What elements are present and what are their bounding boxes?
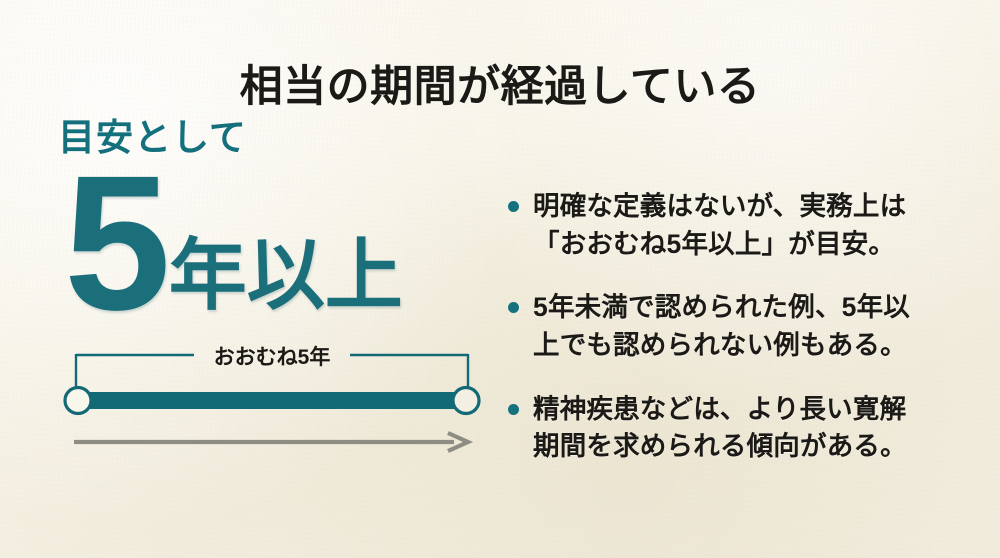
bullet-line: 5年未満で認められた例、5年以 (533, 292, 910, 322)
slide-canvas: 相当の期間が経過している 目安として 5 年以上 おおむね5年 (0, 0, 1000, 558)
headline-figure-group: 5 年以上 (64, 150, 403, 320)
headline-number: 5 (64, 166, 167, 320)
bullet-text: 5年未満で認められた例、5年以 上でも認められない例もある。 (533, 289, 910, 364)
bullet-dot-icon (508, 302, 519, 313)
bullet-list: 明確な定義はないが、実務上は 「おおむね5年以上」が目安。 5年未満で認められた… (508, 188, 970, 466)
page-title: 相当の期間が経過している (0, 52, 1000, 114)
list-item: 精神疾患などは、より長い寛解 期間を求められる傾向がある。 (508, 391, 970, 466)
time-arrow-icon (74, 433, 468, 451)
bullet-line: 精神疾患などは、より長い寛解 (533, 394, 906, 424)
bullet-dot-icon (508, 201, 519, 212)
list-item: 明確な定義はないが、実務上は 「おおむね5年以上」が目安。 (508, 188, 970, 263)
bullet-line: 「おおむね5年以上」が目安。 (533, 229, 895, 259)
timeline-end-marker (453, 388, 479, 414)
bullet-line: 明確な定義はないが、実務上は (533, 191, 906, 221)
headline-unit: 年以上 (169, 238, 403, 320)
timeline-bar (76, 392, 468, 409)
bullet-dot-icon (508, 404, 519, 415)
timeline-caption: おおむね5年 (214, 345, 331, 369)
timeline-start-marker (65, 388, 91, 414)
bullet-text: 精神疾患などは、より長い寛解 期間を求められる傾向がある。 (533, 391, 907, 466)
bullet-text: 明確な定義はないが、実務上は 「おおむね5年以上」が目安。 (533, 188, 906, 263)
timeline-diagram: おおむね5年 (62, 344, 482, 462)
bullet-line: 上でも認められない例もある。 (533, 330, 907, 360)
list-item: 5年未満で認められた例、5年以 上でも認められない例もある。 (508, 289, 970, 364)
bullet-line: 期間を求められる傾向がある。 (533, 431, 907, 461)
